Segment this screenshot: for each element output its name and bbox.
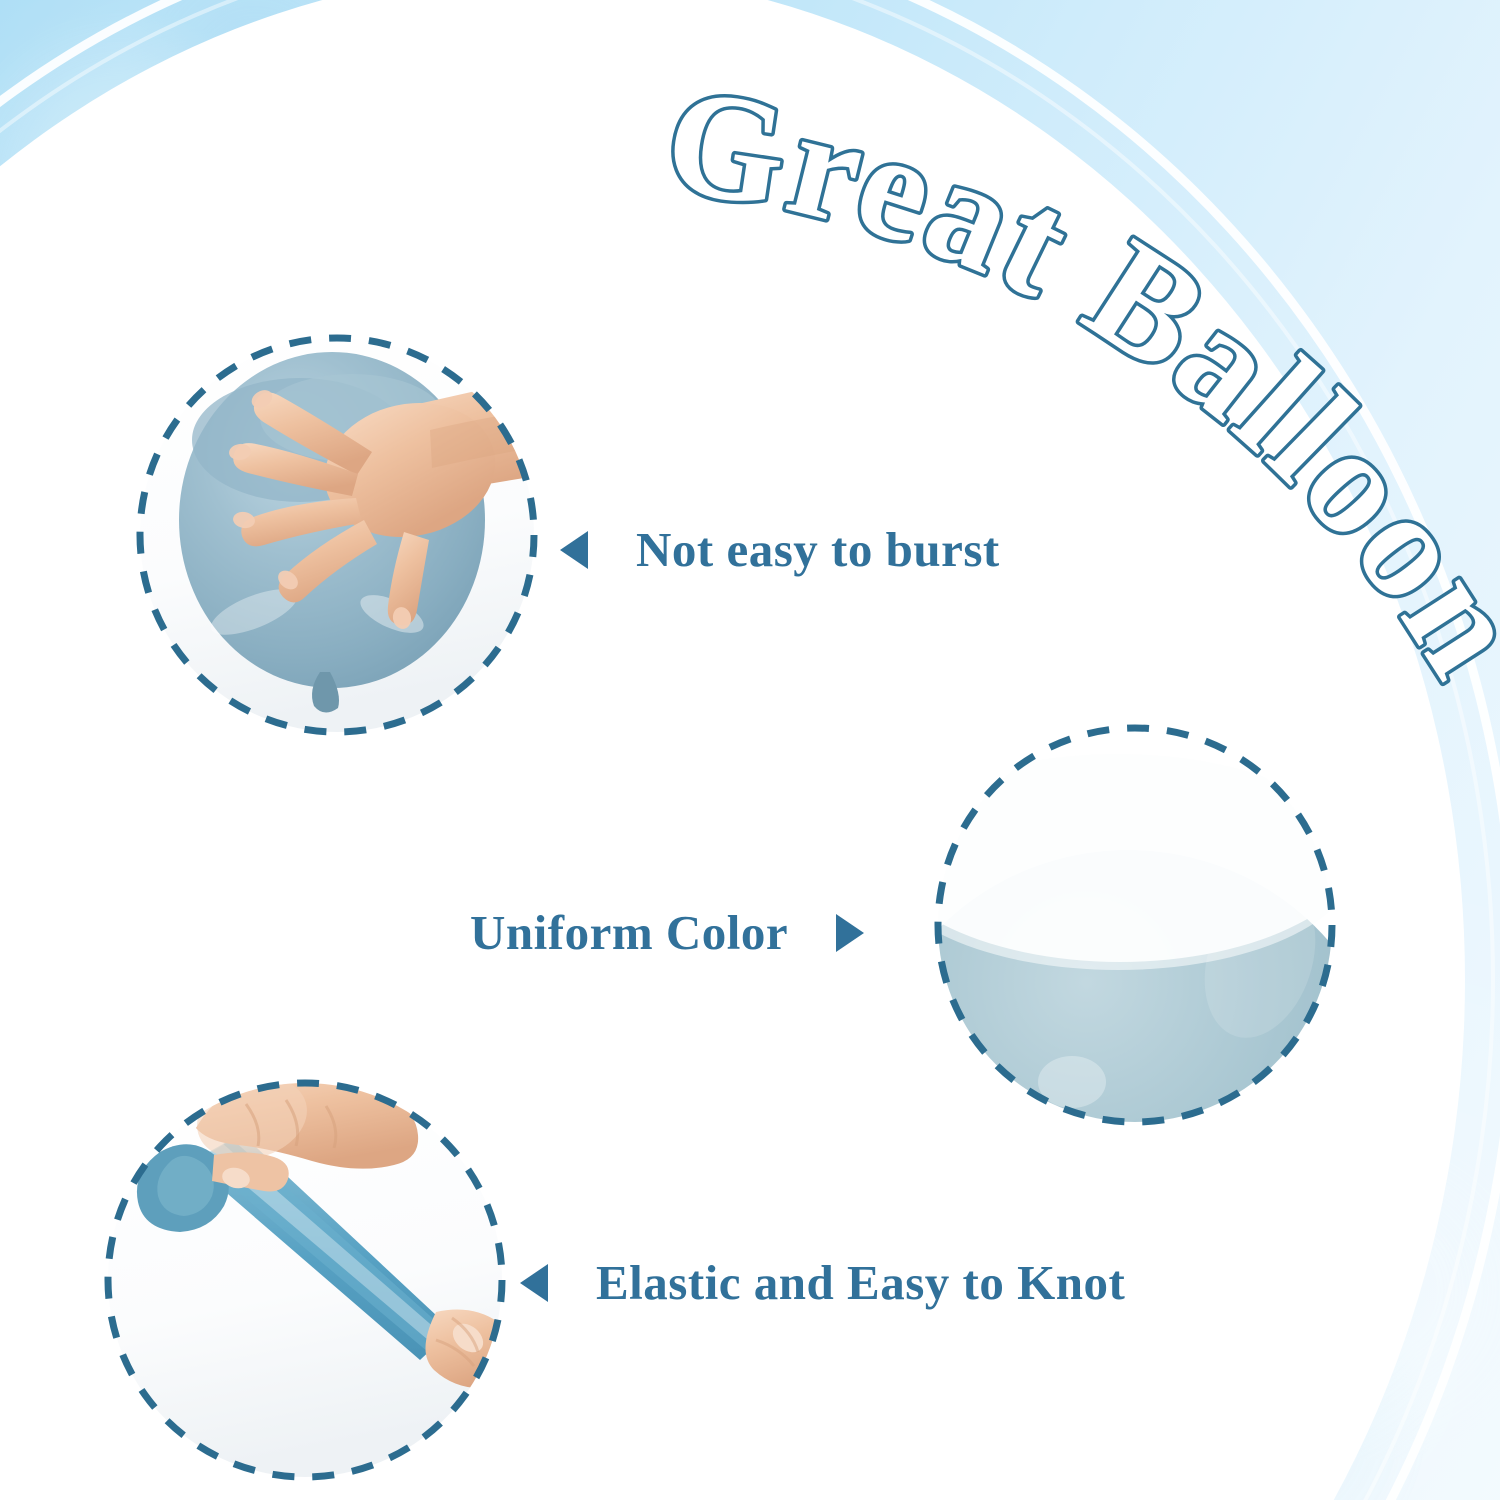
feature-row-elastic-and-easy-to-knot: Elastic and Easy to Knot	[520, 1258, 1125, 1307]
feature-label-uniform-color: Uniform Color	[470, 908, 788, 957]
feature-label-not-easy-to-burst: Not easy to burst	[636, 525, 1000, 574]
feature-row-uniform-color: Uniform Color	[470, 908, 864, 957]
triangle-right-icon	[836, 914, 864, 952]
triangle-left-icon	[520, 1264, 548, 1302]
triangle-left-icon	[560, 531, 588, 569]
feature-label-elastic-and-easy-to-knot: Elastic and Easy to Knot	[596, 1258, 1125, 1307]
infographic-canvas: Great Balloons Not easy to burst Uniform…	[0, 0, 1500, 1500]
feature-row-not-easy-to-burst: Not easy to burst	[560, 525, 1000, 574]
